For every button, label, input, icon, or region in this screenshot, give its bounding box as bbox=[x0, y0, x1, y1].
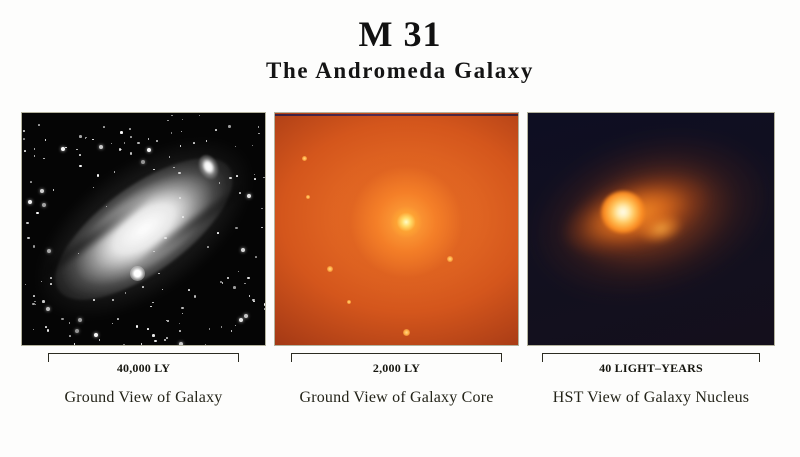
star bbox=[152, 334, 155, 337]
star bbox=[171, 115, 173, 117]
star bbox=[222, 282, 224, 284]
star bbox=[264, 308, 265, 310]
page-title: M 31 bbox=[0, 14, 800, 54]
star bbox=[249, 295, 251, 297]
star bbox=[154, 340, 157, 343]
image-top-edge-band bbox=[275, 114, 518, 116]
star bbox=[181, 307, 184, 310]
star bbox=[129, 128, 131, 130]
caption-block-ground-view-galaxy: 40,000 LY Ground View of Galaxy bbox=[22, 345, 265, 425]
star bbox=[166, 337, 168, 339]
star bbox=[130, 152, 133, 155]
star bbox=[42, 203, 46, 207]
star bbox=[47, 329, 50, 332]
star bbox=[94, 333, 98, 337]
star bbox=[79, 165, 82, 168]
star bbox=[199, 115, 201, 117]
star bbox=[69, 335, 71, 337]
star bbox=[40, 189, 44, 193]
star bbox=[45, 326, 47, 328]
star bbox=[33, 295, 35, 297]
star bbox=[179, 330, 181, 332]
core-point-source bbox=[306, 195, 310, 199]
deep-space-background bbox=[528, 113, 774, 345]
star bbox=[38, 124, 40, 126]
star bbox=[164, 339, 167, 342]
star bbox=[76, 149, 78, 151]
star bbox=[239, 318, 243, 322]
star bbox=[36, 212, 39, 215]
star bbox=[25, 284, 27, 286]
star bbox=[112, 323, 114, 325]
star bbox=[254, 174, 256, 176]
star bbox=[147, 148, 151, 152]
star bbox=[42, 300, 45, 303]
star bbox=[75, 329, 79, 333]
star bbox=[215, 129, 217, 131]
star bbox=[50, 277, 52, 279]
star bbox=[137, 142, 140, 145]
page-subtitle: The Andromeda Galaxy bbox=[0, 57, 800, 85]
star bbox=[193, 142, 195, 144]
star bbox=[236, 175, 238, 177]
star bbox=[23, 138, 25, 140]
galaxy-core-glow bbox=[275, 113, 518, 345]
star bbox=[43, 158, 45, 160]
star bbox=[264, 303, 266, 306]
star bbox=[164, 237, 167, 240]
star bbox=[130, 136, 132, 138]
star bbox=[188, 289, 190, 291]
star bbox=[23, 130, 26, 133]
star bbox=[233, 286, 236, 289]
star bbox=[46, 307, 50, 311]
star bbox=[65, 147, 67, 149]
star bbox=[27, 237, 30, 240]
star bbox=[261, 227, 263, 229]
core-point-source bbox=[403, 329, 410, 336]
star bbox=[156, 140, 159, 143]
star bbox=[148, 138, 150, 140]
star bbox=[152, 302, 154, 304]
star bbox=[99, 339, 101, 341]
star bbox=[28, 200, 32, 204]
image-ground-view-galaxy bbox=[22, 113, 265, 345]
scale-bar-label: 40,000 LY bbox=[22, 361, 265, 376]
star bbox=[45, 139, 47, 141]
core-point-source bbox=[302, 156, 307, 161]
scale-bar-label: 40 LIGHT–YEARS bbox=[528, 361, 774, 376]
star bbox=[241, 248, 245, 252]
panel-ground-view-core bbox=[275, 113, 518, 345]
star bbox=[252, 145, 254, 147]
caption-block-ground-view-core: 2,000 LY Ground View of Galaxy Core bbox=[275, 345, 518, 425]
image-hst-view-nucleus bbox=[528, 113, 774, 345]
star bbox=[111, 143, 113, 145]
star bbox=[103, 126, 105, 128]
star bbox=[50, 283, 52, 285]
star bbox=[171, 132, 173, 134]
star bbox=[99, 145, 103, 149]
star bbox=[209, 328, 211, 330]
core-point-source bbox=[327, 266, 333, 272]
star bbox=[207, 246, 209, 248]
star bbox=[228, 125, 231, 128]
core-point-source bbox=[347, 300, 351, 304]
star bbox=[142, 286, 144, 288]
star bbox=[238, 271, 240, 273]
star bbox=[33, 329, 35, 331]
star bbox=[255, 256, 257, 258]
star bbox=[136, 325, 139, 328]
star bbox=[150, 306, 152, 308]
core-point-source bbox=[447, 256, 453, 262]
star bbox=[32, 303, 35, 306]
scale-row: 40 LIGHT–YEARS bbox=[528, 345, 774, 379]
star bbox=[79, 154, 81, 156]
star bbox=[34, 155, 36, 157]
star bbox=[254, 178, 256, 180]
star bbox=[69, 322, 71, 324]
star bbox=[247, 194, 251, 198]
night-sky-background bbox=[22, 113, 265, 345]
star bbox=[79, 135, 82, 138]
star bbox=[247, 277, 250, 280]
star bbox=[124, 142, 126, 144]
bright-nucleus-core bbox=[601, 191, 645, 233]
panel-caption: HST View of Galaxy Nucleus bbox=[528, 389, 774, 407]
star bbox=[244, 314, 248, 318]
star bbox=[33, 245, 36, 248]
star bbox=[182, 313, 184, 315]
star bbox=[227, 277, 230, 280]
star bbox=[231, 330, 233, 332]
star bbox=[263, 177, 265, 179]
star bbox=[30, 181, 32, 183]
caption-block-hst-view-nucleus: 40 LIGHT–YEARS HST View of Galaxy Nucleu… bbox=[528, 345, 774, 425]
star bbox=[53, 189, 55, 191]
star bbox=[85, 138, 87, 140]
scale-row: 40,000 LY bbox=[22, 345, 265, 379]
star bbox=[147, 328, 149, 330]
panel-ground-view-galaxy bbox=[22, 113, 265, 345]
star bbox=[258, 126, 260, 128]
star bbox=[61, 147, 65, 151]
star bbox=[181, 131, 183, 133]
star bbox=[120, 131, 123, 134]
star bbox=[92, 139, 94, 141]
star bbox=[261, 208, 263, 210]
star bbox=[167, 120, 169, 122]
star bbox=[153, 251, 155, 253]
star bbox=[244, 283, 246, 285]
star bbox=[119, 148, 122, 151]
star bbox=[217, 232, 219, 234]
panel-hst-view-nucleus bbox=[528, 113, 774, 345]
image-panel-row bbox=[22, 113, 774, 345]
poster-root: M 31 The Andromeda Galaxy bbox=[0, 0, 800, 457]
panel-caption: Ground View of Galaxy bbox=[22, 389, 265, 407]
star bbox=[34, 148, 36, 150]
star bbox=[258, 133, 260, 135]
image-ground-view-core bbox=[275, 113, 518, 345]
scale-bar-label: 2,000 LY bbox=[275, 361, 518, 376]
bright-foreground-star bbox=[130, 266, 145, 281]
star bbox=[239, 192, 241, 194]
star bbox=[61, 318, 64, 321]
star bbox=[117, 318, 119, 320]
star bbox=[97, 174, 100, 177]
star bbox=[179, 323, 181, 325]
star bbox=[26, 222, 29, 225]
scale-row: 2,000 LY bbox=[275, 345, 518, 379]
star bbox=[235, 325, 237, 327]
star bbox=[182, 119, 184, 121]
panel-caption: Ground View of Galaxy Core bbox=[275, 389, 518, 407]
star bbox=[235, 227, 238, 230]
star bbox=[194, 295, 197, 298]
title-block: M 31 The Andromeda Galaxy bbox=[0, 14, 800, 85]
star bbox=[221, 326, 223, 328]
star bbox=[78, 318, 82, 322]
star bbox=[182, 216, 184, 218]
star bbox=[24, 150, 26, 152]
